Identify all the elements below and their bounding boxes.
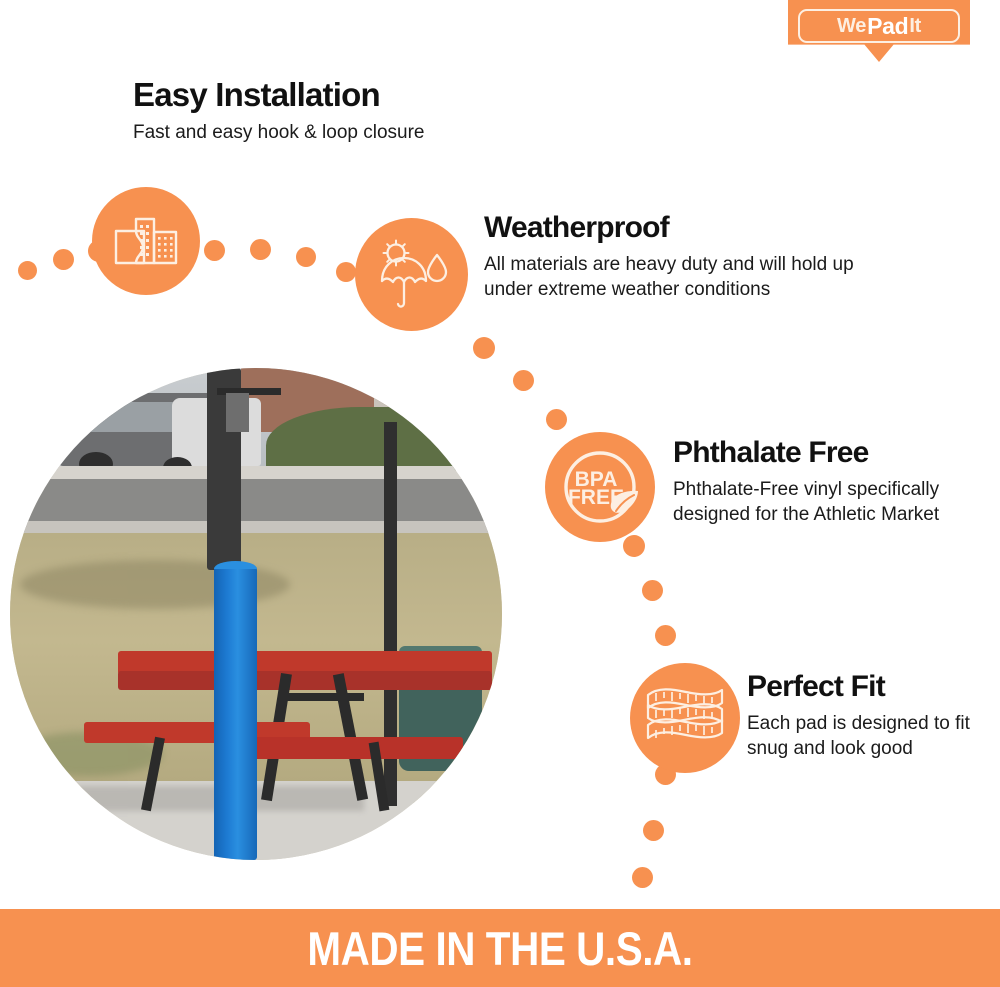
feature-block-phthalate-free: Phthalate Free Phthalate-Free vinyl spec… — [673, 437, 948, 527]
feature-description-perfect-fit: Each pad is designed to fit snug and loo… — [747, 711, 972, 762]
feature-description-weatherproof: All materials are heavy duty and will ho… — [484, 252, 904, 303]
trail-dot — [643, 820, 664, 841]
trail-dot — [296, 247, 316, 267]
hook-and-loop-icon — [92, 187, 200, 295]
photo-bench-back — [246, 737, 462, 759]
feature-block-easy-installation: Easy Installation Fast and easy hook & l… — [133, 78, 563, 145]
made-in-usa-text: MADE IN THE U.S.A. — [307, 921, 692, 976]
trail-dot — [632, 867, 653, 888]
logo-text-we: We — [837, 15, 866, 38]
feature-description-phthalate-free: Phthalate-Free vinyl specifically design… — [673, 477, 948, 528]
trail-dot — [546, 409, 567, 430]
feature-title-perfect-fit: Perfect Fit — [747, 671, 972, 703]
umbrella-sun-rain-icon — [355, 218, 468, 331]
photo-blue-post-pad — [214, 565, 257, 860]
photo-shade-plate — [226, 393, 248, 432]
photo-table-top-edge — [118, 671, 492, 691]
trail-dot — [18, 261, 37, 280]
logo-wordmark: WePadIt — [798, 9, 960, 43]
trail-dot — [623, 535, 645, 557]
brand-logo[interactable]: WePadIt — [788, 0, 970, 62]
logo-text-pad: Pad — [866, 13, 909, 40]
logo-text-it: It — [909, 15, 921, 38]
feature-title-easy-installation: Easy Installation — [133, 78, 563, 113]
trail-dot — [473, 337, 495, 359]
feature-description-easy-installation: Fast and easy hook & loop closure — [133, 120, 563, 145]
feature-title-weatherproof: Weatherproof — [484, 212, 904, 244]
trail-dot — [53, 249, 74, 270]
trail-dot — [642, 580, 663, 601]
feature-block-perfect-fit: Perfect Fit Each pad is designed to fit … — [747, 671, 972, 761]
product-photo — [10, 368, 502, 860]
product-feature-infographic: WePadIt Easy Installation Fast and easy … — [0, 0, 1000, 987]
photo-scene — [10, 368, 502, 860]
trail-dot — [655, 625, 676, 646]
trail-dot — [250, 239, 271, 260]
measuring-tape-icon — [630, 663, 740, 773]
photo-table-brace — [286, 693, 365, 701]
made-in-usa-banner: MADE IN THE U.S.A. — [0, 909, 1000, 987]
bpa-free-leaf-icon: BPA FREE — [545, 432, 655, 542]
feature-title-phthalate-free: Phthalate Free — [673, 437, 948, 469]
trail-dot — [336, 262, 356, 282]
trail-dot — [513, 370, 534, 391]
photo-blue-post-pad-top — [214, 561, 257, 569]
trail-dot — [204, 240, 225, 261]
feature-block-weatherproof: Weatherproof All materials are heavy dut… — [484, 212, 904, 302]
